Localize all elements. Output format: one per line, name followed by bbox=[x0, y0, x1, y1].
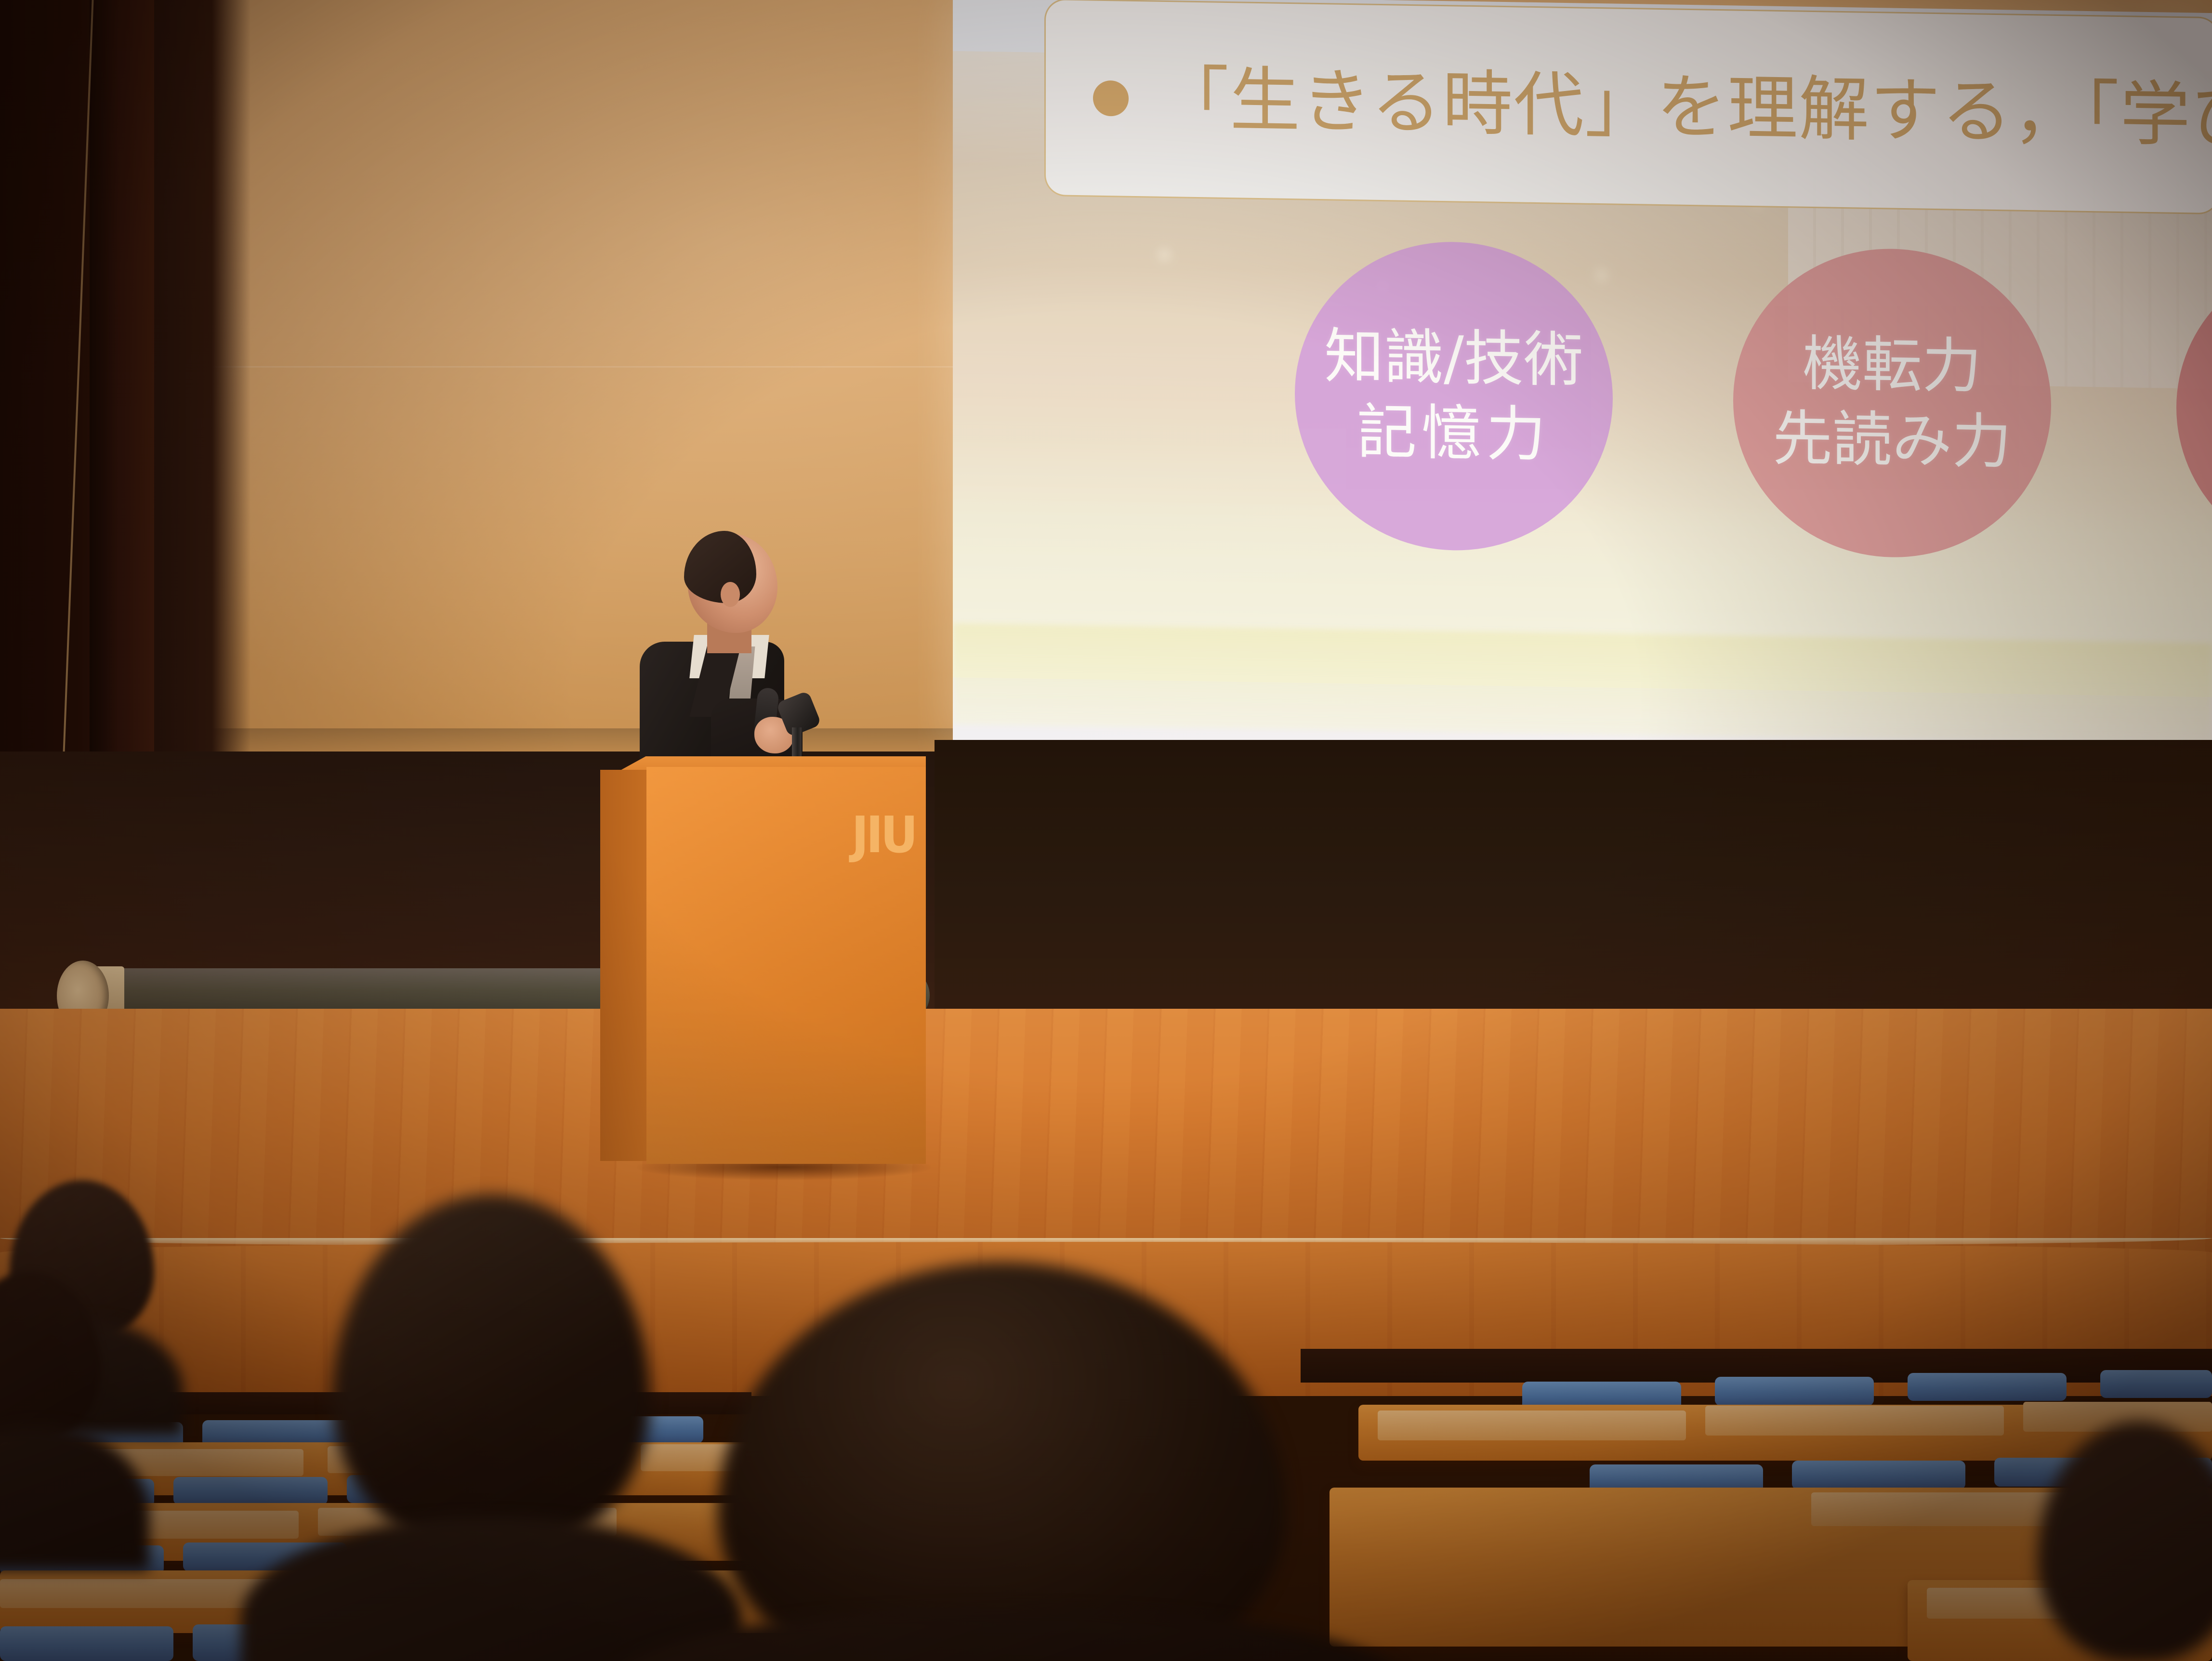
inquiry-circle: 探求 地頭 bbox=[2176, 253, 2212, 567]
bullet-dot-icon bbox=[1093, 80, 1129, 117]
podium-floor-shadow bbox=[637, 1164, 931, 1180]
fold-down-desk bbox=[1705, 1406, 2004, 1436]
circle-2-line-2: 先読み力 bbox=[1773, 401, 2012, 480]
slide-headline-text: 「生きる時代」を理解する，「学び方」を bbox=[1159, 64, 2212, 155]
fold-down-desk bbox=[1378, 1411, 1686, 1440]
slide-headline-card: 「生きる時代」を理解する，「学び方」を bbox=[1044, 0, 2212, 214]
seat-cushion bbox=[1715, 1377, 1874, 1406]
jiu-logo: JIU bbox=[852, 805, 915, 864]
quick-wit-circle: 機転力 先読み力 bbox=[1733, 246, 2051, 559]
circle-1-line-2: 記憶力 bbox=[1357, 395, 1551, 473]
podium: JIU bbox=[600, 756, 926, 1175]
slide-lawn bbox=[953, 623, 2212, 744]
seat-cushion bbox=[173, 1477, 328, 1505]
knowledge-skill-circle: 知識/技術 記憶力 bbox=[1295, 239, 1613, 553]
seat-cushion bbox=[0, 1626, 173, 1661]
speaker-hair bbox=[684, 531, 756, 603]
slide-circle-group: 知識/技術 記憶力 機転力 先読み力 探求 地頭 bbox=[1011, 235, 2212, 611]
seat-cushion bbox=[1908, 1373, 2067, 1401]
seat-cushion bbox=[2100, 1370, 2212, 1398]
auditorium-photo: 「生きる時代」を理解する，「学び方」を 知識/技術 記憶力 機転力 先読み力 探… bbox=[0, 0, 2212, 1661]
speaker bbox=[626, 520, 833, 771]
podium-front-panel: JIU bbox=[646, 767, 926, 1164]
seat-cushion bbox=[1792, 1461, 1965, 1490]
projected-slide: 「生きる時代」を理解する，「学び方」を 知識/技術 記憶力 機転力 先読み力 探… bbox=[953, 0, 2212, 764]
circle-2-line-1: 機転力 bbox=[1803, 326, 1982, 404]
podium-side-panel bbox=[600, 770, 648, 1161]
stage-backdrop-right bbox=[935, 740, 2212, 1029]
circle-1-line-1: 知識/技術 bbox=[1324, 319, 1583, 398]
speaker-ear bbox=[721, 582, 740, 607]
